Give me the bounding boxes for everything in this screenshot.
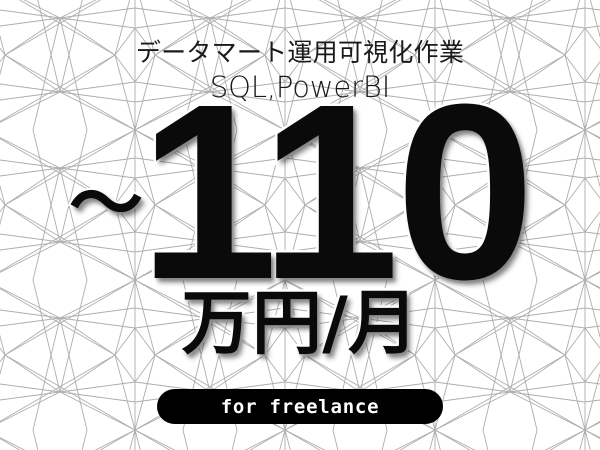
badge-container: for freelance — [0, 389, 600, 424]
pricing-banner: データマート運用可視化作業 SQL,PowerBI ～ 110 万円/月 for… — [0, 0, 600, 450]
freelance-badge: for freelance — [157, 389, 443, 424]
price-amount: 110 — [139, 67, 531, 317]
price-row: ～ 110 — [0, 96, 600, 296]
price-unit: 万円/月 — [0, 286, 600, 360]
approximately-symbol: ～ — [69, 167, 143, 241]
